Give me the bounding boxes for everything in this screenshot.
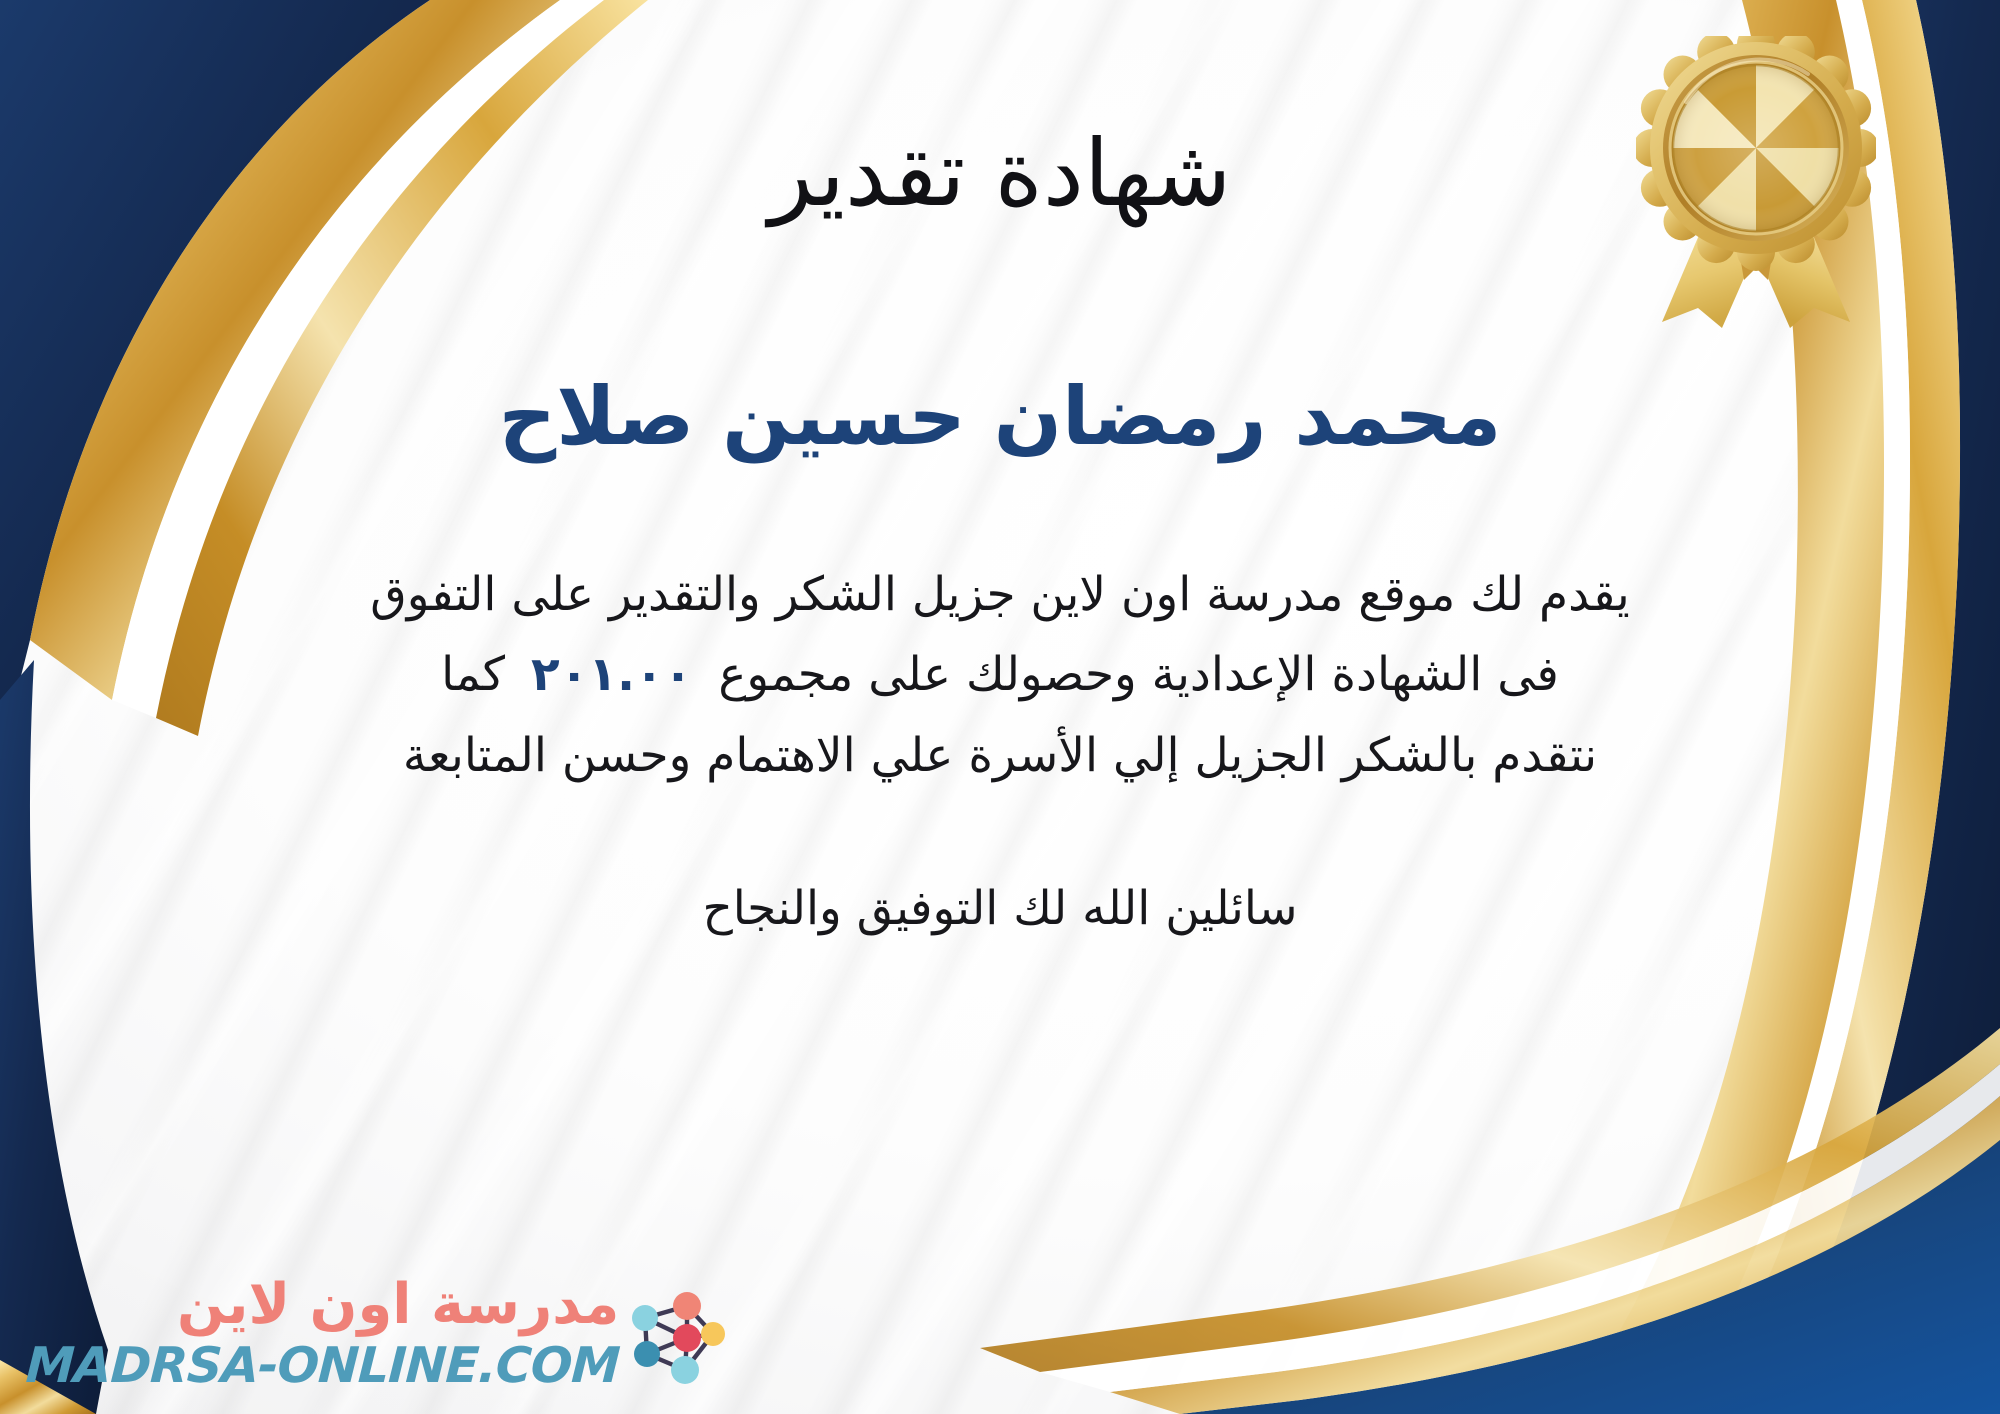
body-line-2-prefix: فى الشهادة الإعدادية وحصولك على مجموع bbox=[718, 647, 1559, 702]
brand-logo-text: مدرسة اون لاين MADRSA-ONLINE.COM bbox=[26, 1277, 619, 1390]
closing-wish-text: سائلين الله لك التوفيق والنجاح bbox=[702, 871, 1297, 946]
recipient-name: محمد رمضان حسين صلاح bbox=[499, 373, 1502, 461]
total-score-value: ٢٠١.٠٠ bbox=[505, 635, 718, 716]
brand-logo[interactable]: مدرسة اون لاين MADRSA-ONLINE.COM bbox=[26, 1277, 731, 1390]
brand-website-url: MADRSA-ONLINE.COM bbox=[25, 1341, 621, 1390]
brand-name-arabic: مدرسة اون لاين bbox=[177, 1277, 619, 1333]
body-line-1: يقدم لك موقع مدرسة اون لاين جزيل الشكر و… bbox=[130, 555, 1870, 636]
certificate-body-text: يقدم لك موقع مدرسة اون لاين جزيل الشكر و… bbox=[130, 555, 1870, 797]
certificate-canvas: شهادة تقدير محمد رمضان حسين صلاح يقدم لك… bbox=[0, 0, 2000, 1414]
certificate-content: شهادة تقدير محمد رمضان حسين صلاح يقدم لك… bbox=[0, 0, 2000, 1414]
certificate-title: شهادة تقدير bbox=[769, 126, 1232, 223]
network-nodes-icon bbox=[625, 1282, 729, 1386]
body-line-3: نتقدم بالشكر الجزيل إلي الأسرة علي الاهت… bbox=[130, 716, 1870, 797]
body-line-2: فى الشهادة الإعدادية وحصولك على مجموع٢٠١… bbox=[130, 635, 1870, 716]
body-line-2-suffix: كما bbox=[441, 647, 505, 702]
